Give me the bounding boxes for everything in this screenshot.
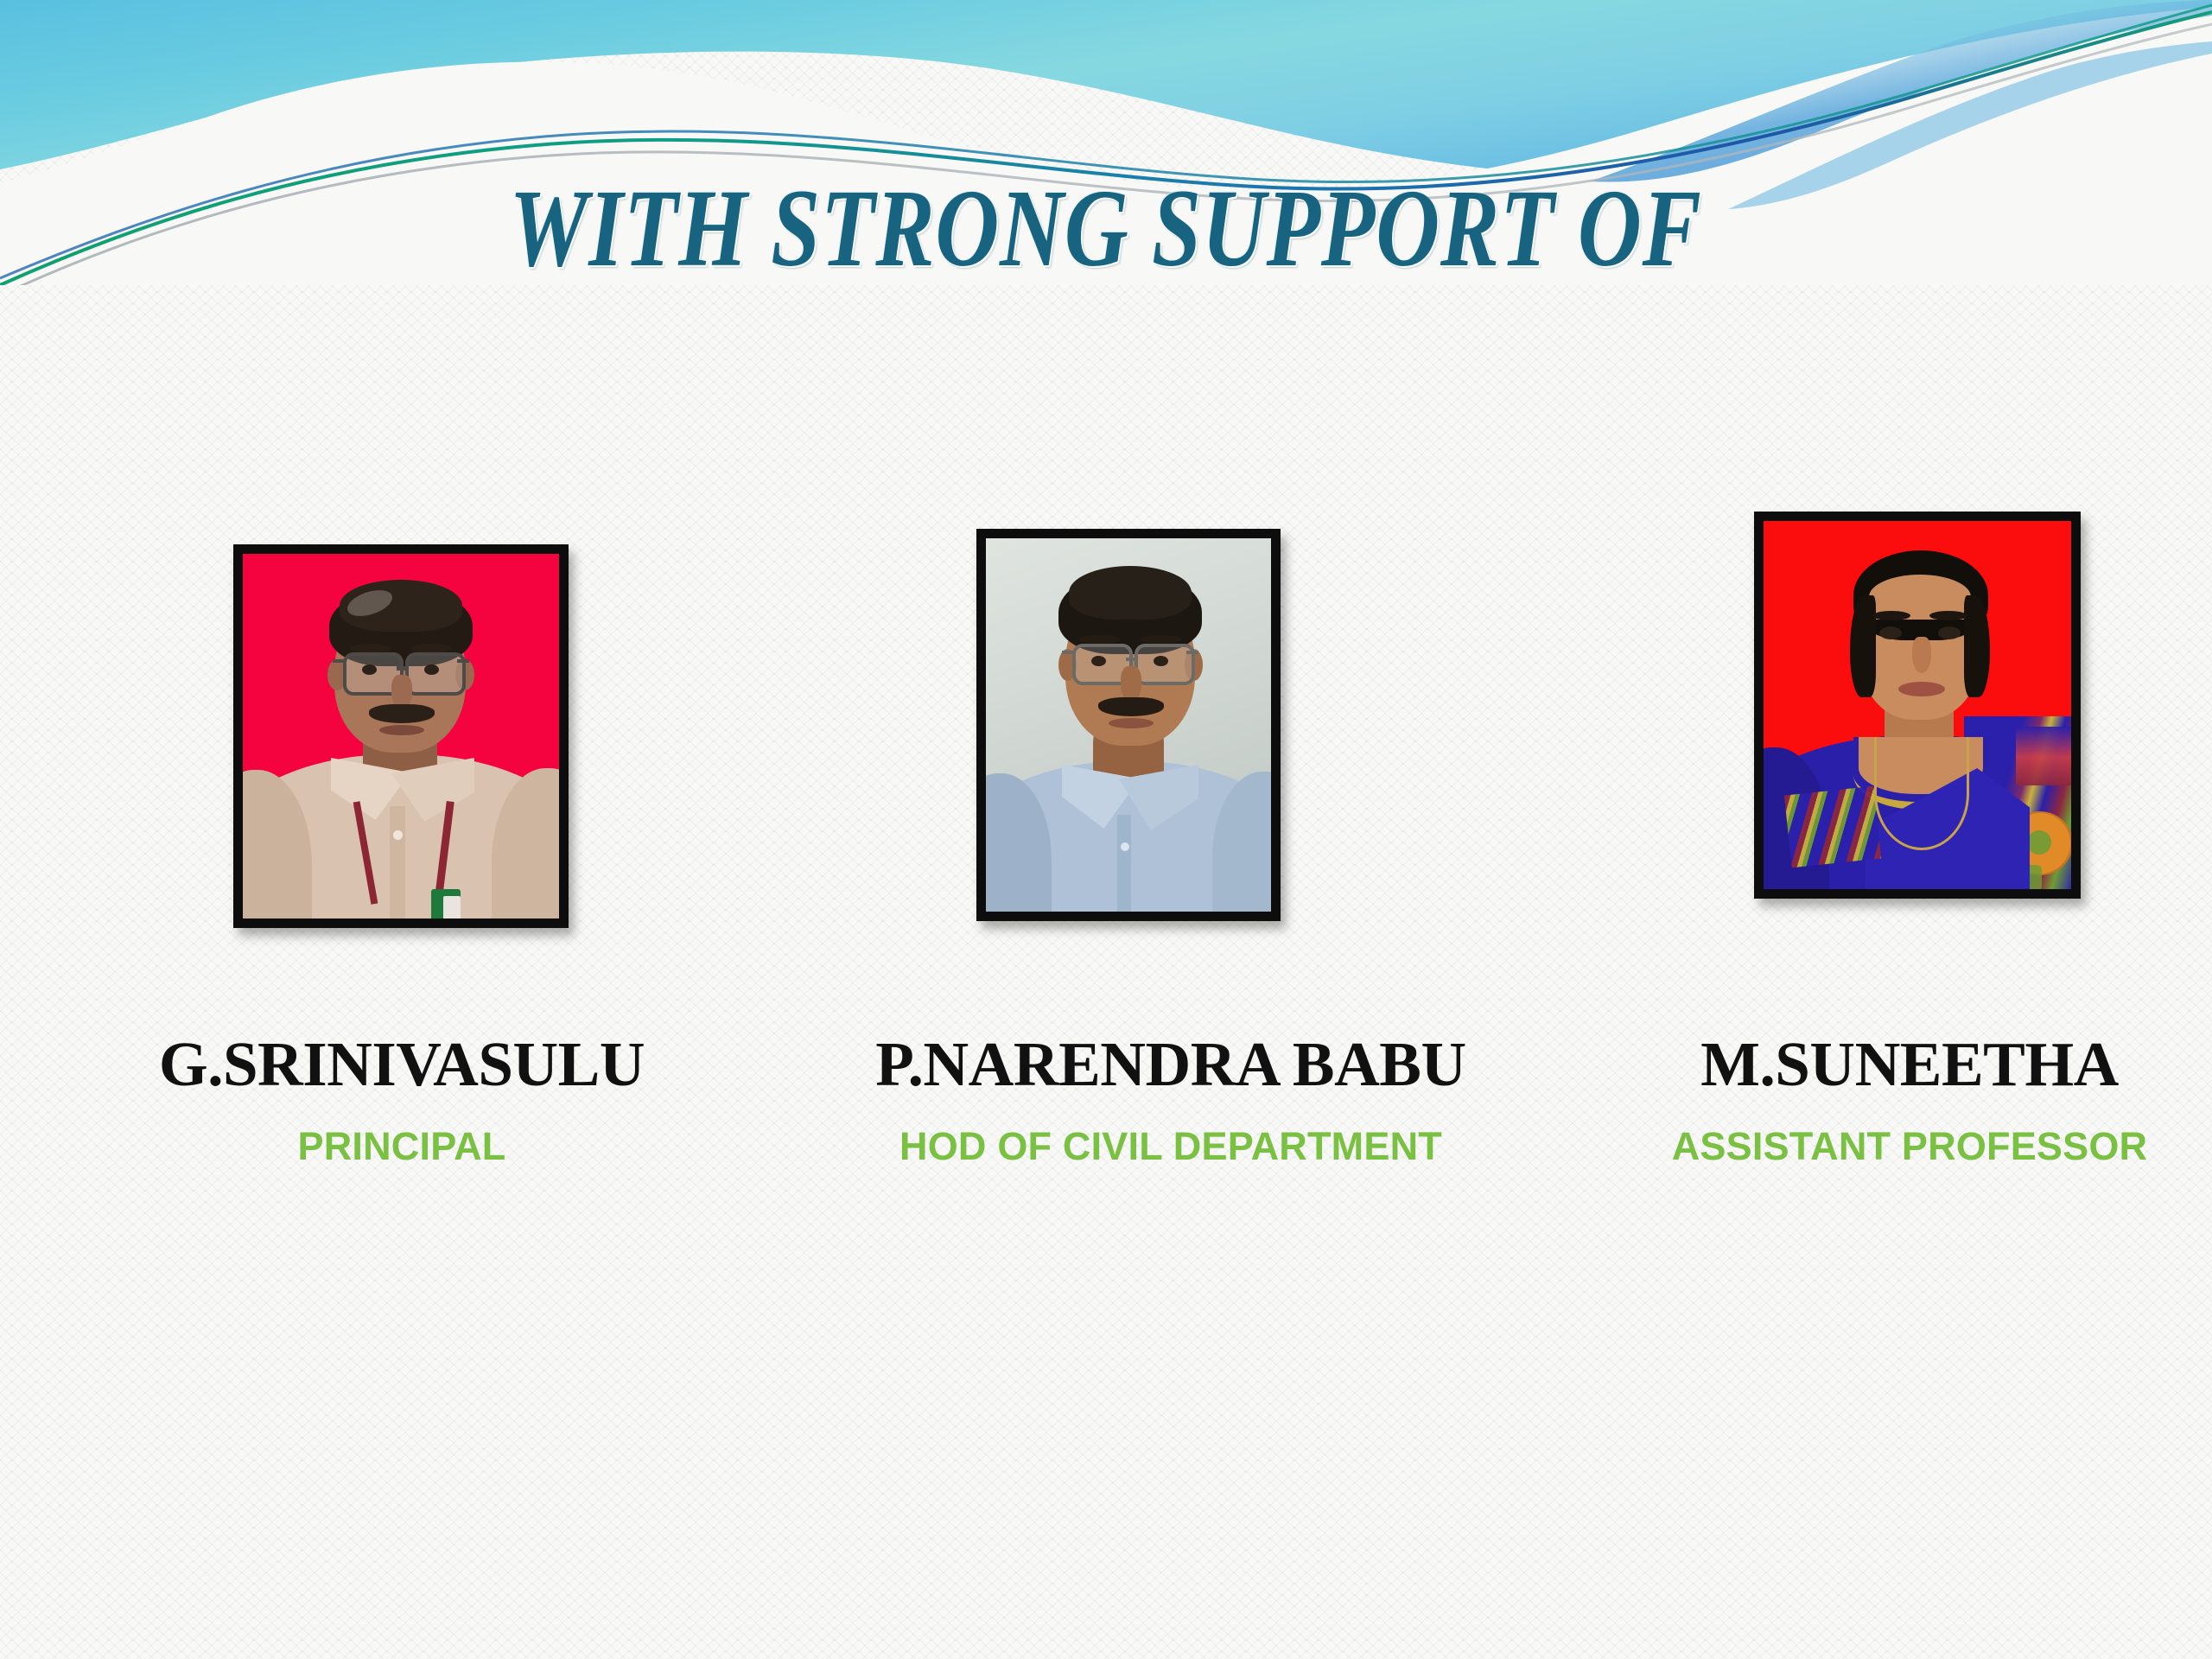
page-title: WITH STRONG SUPPORT OF bbox=[510, 173, 1702, 283]
person-name-3: M.SUNEETHA bbox=[1624, 1033, 2195, 1096]
photo-image-3 bbox=[1764, 521, 2071, 889]
photo-frame-3[interactable] bbox=[1754, 512, 2081, 899]
person-role-3: ASSISTANT PROFESSOR bbox=[1624, 1127, 2195, 1166]
presentation-slide: WITH STRONG SUPPORT OF bbox=[0, 0, 2212, 1659]
title-container: WITH STRONG SUPPORT OF bbox=[0, 173, 2212, 283]
caption-3: M.SUNEETHA ASSISTANT PROFESSOR bbox=[1624, 1033, 2195, 1166]
